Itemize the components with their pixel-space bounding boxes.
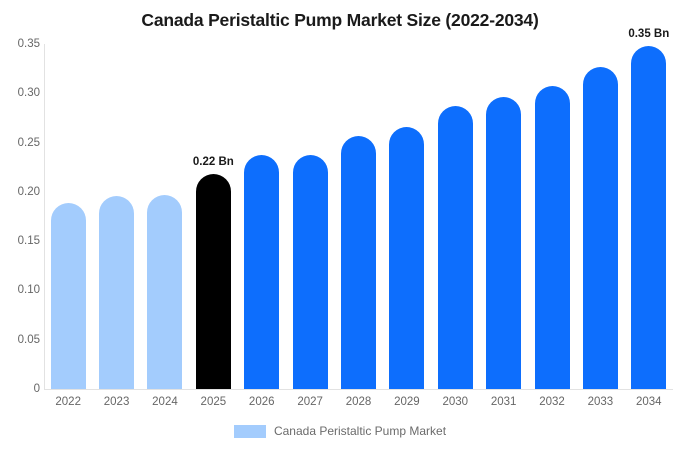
bar-slot [51,0,86,389]
legend-swatch-0 [234,425,266,438]
x-tick-label-2025: 2025 [196,396,231,408]
x-tick-label-2033: 2033 [583,396,618,408]
x-tick-label-2034: 2034 [631,396,666,408]
y-tick-label: 0.20 [0,186,40,198]
bars-layer: 0.22 Bn0.35 Bn [44,0,673,389]
bar-2030[interactable] [438,106,473,389]
bar-slot [438,0,473,389]
bar-2028[interactable] [341,136,376,389]
bar-slot [583,0,618,389]
x-tick-label-2023: 2023 [99,396,134,408]
bar-slot: 0.35 Bn [631,0,666,389]
x-tick-label-2032: 2032 [535,396,570,408]
bar-slot [535,0,570,389]
bar-slot [99,0,134,389]
bar-2026[interactable] [244,155,279,389]
bar-slot [147,0,182,389]
x-axis-line [44,389,673,390]
bar-slot [389,0,424,389]
y-tick-label: 0.10 [0,284,40,296]
bar-2025[interactable] [196,174,231,389]
x-tick-label-2026: 2026 [244,396,279,408]
bar-2029[interactable] [389,127,424,389]
bar-slot [341,0,376,389]
x-tick-label-2030: 2030 [438,396,473,408]
chart-legend: Canada Peristaltic Pump Market [0,424,680,438]
y-tick-label: 0.25 [0,137,40,149]
bar-slot [244,0,279,389]
bar-2027[interactable] [293,155,328,389]
bar-slot: 0.22 Bn [196,0,231,389]
x-axis-tick-labels: 2022202320242025202620272028202920302031… [44,396,673,414]
bar-2031[interactable] [486,97,521,389]
bar-2032[interactable] [535,86,570,389]
bar-value-label-2034: 0.35 Bn [628,28,669,40]
y-tick-label: 0 [0,383,40,395]
bar-2033[interactable] [583,67,618,389]
bar-2034[interactable] [631,46,666,389]
y-tick-label: 0.05 [0,334,40,346]
y-tick-label: 0.30 [0,87,40,99]
bar-slot [486,0,521,389]
bar-2023[interactable] [99,196,134,389]
x-tick-label-2027: 2027 [293,396,328,408]
x-tick-label-2024: 2024 [147,396,182,408]
y-axis-tick-labels: 00.050.100.150.200.250.300.35 [0,44,40,389]
chart-container: Canada Peristaltic Pump Market Size (202… [0,0,680,450]
bar-value-label-2025: 0.22 Bn [193,156,234,168]
bar-slot [293,0,328,389]
x-tick-label-2031: 2031 [486,396,521,408]
x-tick-label-2022: 2022 [51,396,86,408]
y-tick-label: 0.35 [0,38,40,50]
bar-2022[interactable] [51,203,86,389]
bar-2024[interactable] [147,195,182,389]
y-tick-label: 0.15 [0,235,40,247]
legend-label-0: Canada Peristaltic Pump Market [274,424,446,438]
x-tick-label-2029: 2029 [389,396,424,408]
x-tick-label-2028: 2028 [341,396,376,408]
